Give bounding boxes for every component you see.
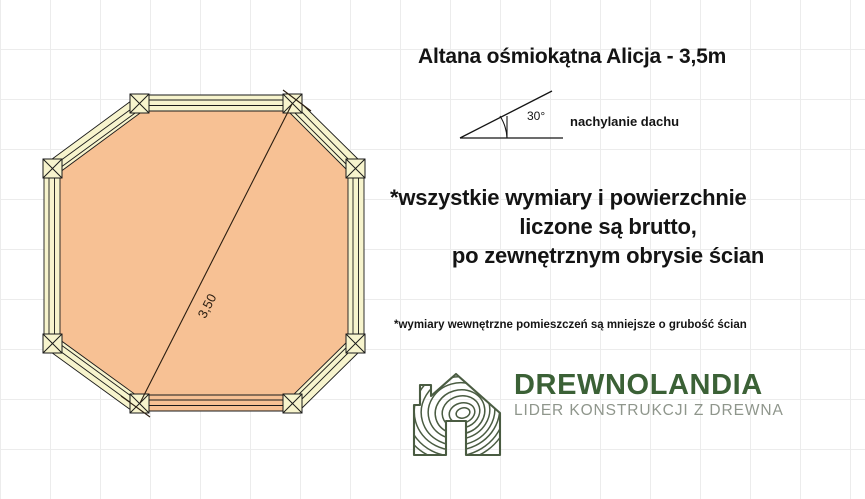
tree-rings (400, 363, 508, 459)
octagon-floor-outline (52, 103, 355, 403)
house-tree-rings-icon (400, 363, 508, 459)
drawing-canvas: 3,50 Altana ośmiokątna Alicja - 3,5m 30°… (0, 0, 865, 499)
note-line-2: liczone są brutto, (382, 212, 834, 241)
angle-arc (500, 116, 507, 138)
corner-post (346, 334, 365, 353)
logo-tagline: LIDER KONSTRUKCJI Z DREWNA (514, 401, 804, 420)
corner-post (283, 394, 302, 413)
interior-dimensions-footnote: *wymiary wewnętrzne pomieszczeń są mniej… (394, 319, 834, 331)
octagon-floor-plan: 3,50 (0, 55, 400, 445)
company-logo: DREWNOLANDIA LIDER KONSTRUKCJI Z DREWNA (400, 363, 800, 463)
corner-post (43, 334, 62, 353)
roof-pitch-caption: nachylanie dachu (570, 114, 679, 129)
logo-company-name: DREWNOLANDIA (514, 369, 804, 401)
corner-post (43, 159, 62, 178)
corner-post (130, 94, 149, 113)
note-line-3: po zewnętrznym obrysie ścian (382, 241, 834, 270)
angle-value-label: 30° (527, 109, 545, 123)
corner-post (130, 394, 149, 413)
corner-post (346, 159, 365, 178)
note-line-1: *wszystkie wymiary i powierzchnie (390, 183, 834, 212)
logo-text-block: DREWNOLANDIA LIDER KONSTRUKCJI Z DREWNA (514, 369, 804, 420)
gross-dimensions-note: *wszystkie wymiary i powierzchnie liczon… (382, 183, 834, 270)
page-title: Altana ośmiokątna Alicja - 3,5m (418, 45, 818, 69)
